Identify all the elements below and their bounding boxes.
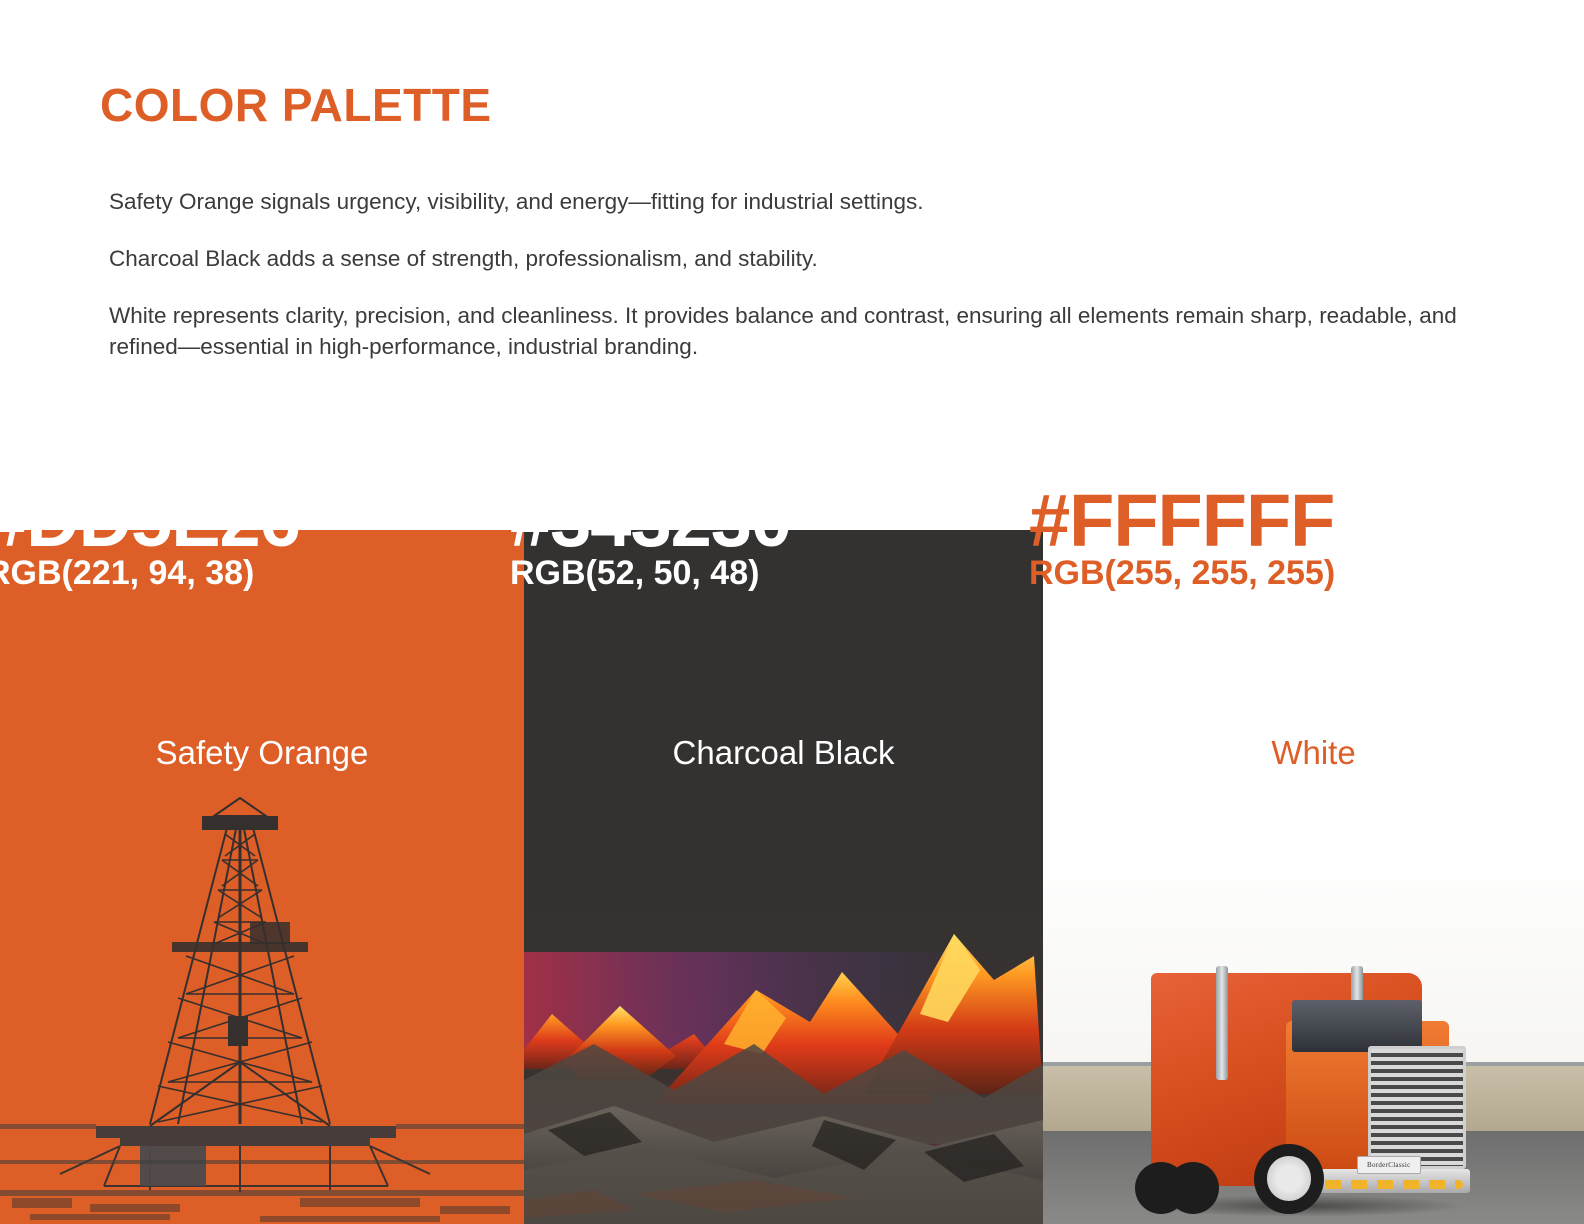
paragraph-safety-orange: Safety Orange signals urgency, visibilit… bbox=[109, 186, 1479, 217]
swatch-label-safety-orange: Safety Orange bbox=[0, 734, 524, 772]
license-plate: BorderClassic bbox=[1357, 1156, 1421, 1174]
paragraph-white: White represents clarity, precision, and… bbox=[109, 300, 1469, 362]
semi-truck-image: BorderClassic bbox=[1043, 880, 1584, 1224]
swatch-label-charcoal-black: Charcoal Black bbox=[524, 734, 1043, 772]
mountain-range-icon bbox=[524, 894, 1043, 1224]
oil-derrick-image bbox=[0, 794, 524, 1224]
swatch-label-white: White bbox=[1043, 734, 1584, 772]
slide-canvas: COLOR PALETTE Safety Orange signals urge… bbox=[0, 0, 1584, 1224]
front-wheel bbox=[1254, 1144, 1324, 1214]
swatch-safety-orange[interactable]: Safety Orange bbox=[0, 530, 524, 1224]
swatch-band: Safety Orange bbox=[0, 530, 1584, 1224]
swatch-white[interactable]: White BorderClassic bbox=[1043, 530, 1584, 1224]
rear-wheel-2 bbox=[1167, 1162, 1219, 1214]
windshield bbox=[1292, 1000, 1422, 1052]
paragraph-charcoal-black: Charcoal Black adds a sense of strength,… bbox=[109, 243, 1479, 274]
swatch-charcoal-black[interactable]: Charcoal Black bbox=[524, 530, 1043, 1224]
oil-derrick-icon bbox=[0, 794, 524, 1224]
chrome-grille bbox=[1368, 1046, 1466, 1169]
page-title: COLOR PALETTE bbox=[100, 78, 492, 132]
mountain-sunset-image bbox=[524, 894, 1043, 1224]
exhaust-stack-left bbox=[1216, 966, 1228, 1080]
